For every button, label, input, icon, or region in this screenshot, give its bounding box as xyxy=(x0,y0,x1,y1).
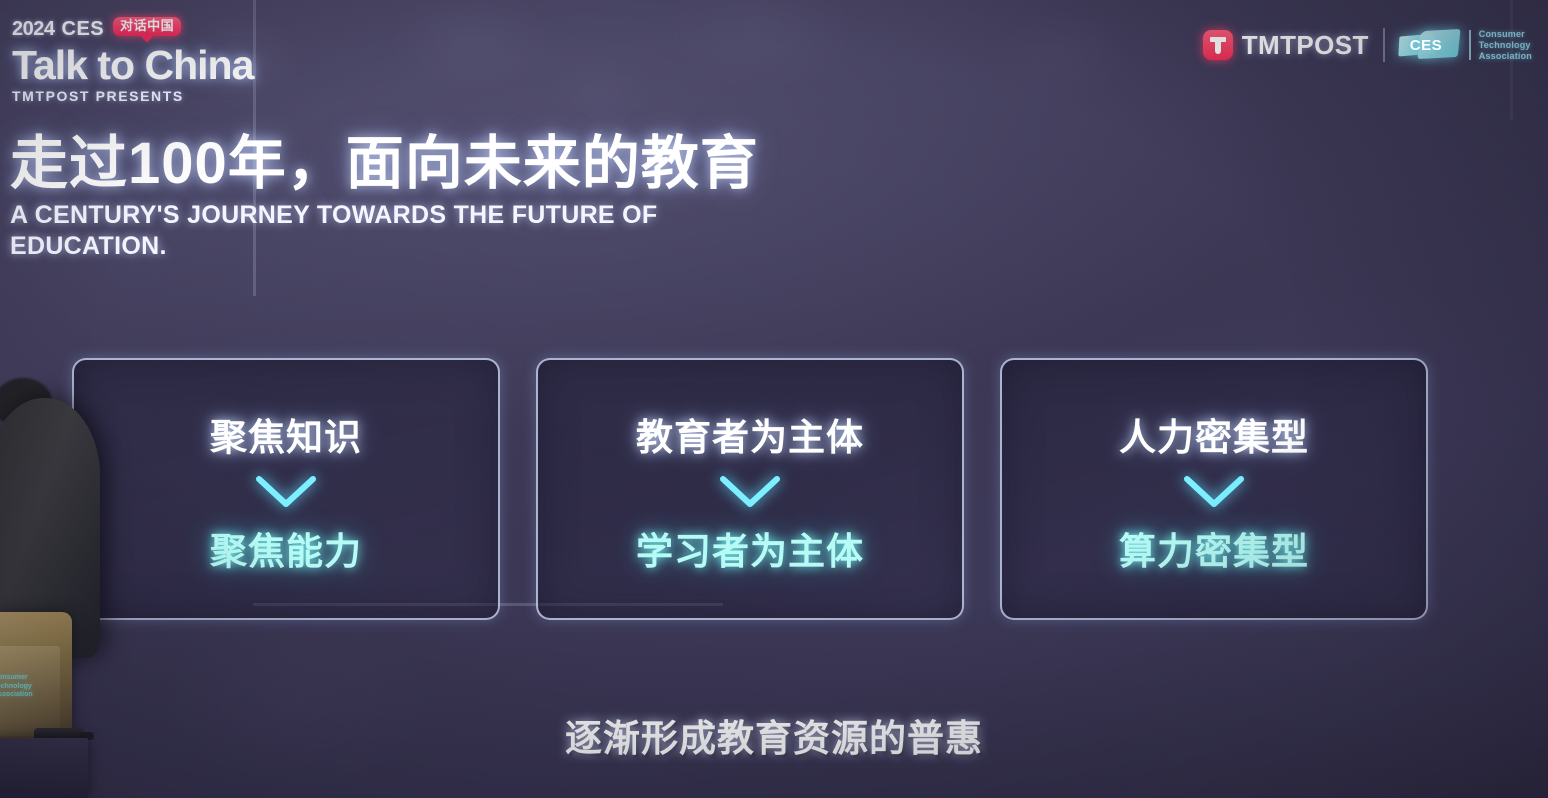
card-1-from-label: 聚焦知识 xyxy=(210,407,362,461)
chevron-down-icon xyxy=(255,475,317,509)
lectern-logo-line2: Technology xyxy=(0,683,33,692)
lectern-cta-logo-text: Consumer Technology Association xyxy=(0,674,33,700)
chevron-down-icon xyxy=(1183,475,1245,509)
lectern-logo-line1: Consumer xyxy=(0,674,33,683)
ces-mark-text: CES xyxy=(1410,37,1442,54)
tmtpost-t-mark-icon xyxy=(1203,30,1233,60)
cta-divider-icon xyxy=(1469,30,1471,60)
card-3-to-label: 算力密集型 xyxy=(1119,521,1309,575)
tmtpost-logo: TMTPOST xyxy=(1203,30,1369,61)
brand-year: 2024 xyxy=(12,18,55,40)
tmtpost-wordmark: TMTPOST xyxy=(1242,30,1369,61)
transition-card-3: 人力密集型 算力密集型 xyxy=(1000,358,1428,620)
lectern-panel: Consumer Technology Association xyxy=(0,612,72,740)
brand-top-row: 2024 CES 对话中国 xyxy=(12,18,272,42)
cta-association-line1: Consumer xyxy=(1479,29,1532,40)
presentation-slide-stage: 2024 CES 对话中国 Talk to China TMTPOST PRES… xyxy=(0,0,1548,798)
cta-association-line2: Technology xyxy=(1479,40,1532,51)
brand-chinese-bubble: 对话中国 xyxy=(113,17,181,36)
card-3-from-label: 人力密集型 xyxy=(1119,407,1309,461)
slide-headline: 走过100年，面向未来的教育 A CENTURY'S JOURNEY TOWAR… xyxy=(10,132,910,262)
bottom-caption: 逐渐形成教育资源的普惠 xyxy=(0,708,1548,762)
cta-logo: CES Consumer Technology Association xyxy=(1399,28,1532,62)
brand-title: Talk to China xyxy=(12,43,272,87)
headline-chinese: 走过100年，面向未来的教育 xyxy=(10,132,910,196)
brand-event-name: CES xyxy=(62,18,105,40)
transition-card-2: 教育者为主体 学习者为主体 xyxy=(536,358,964,620)
lectern: Consumer Technology Association xyxy=(0,612,80,798)
headline-english: A CENTURY'S JOURNEY TOWARDS THE FUTURE O… xyxy=(10,200,700,262)
card-1-to-label: 聚焦能力 xyxy=(210,521,362,575)
event-brand-logo: 2024 CES 对话中国 Talk to China TMTPOST PRES… xyxy=(12,18,272,104)
vertical-divider-icon xyxy=(1383,28,1385,62)
card-2-from-label: 教育者为主体 xyxy=(636,407,864,461)
lectern-base xyxy=(0,738,88,798)
cta-association-line3: Association xyxy=(1479,51,1532,62)
cta-association-text: Consumer Technology Association xyxy=(1479,29,1532,62)
transition-card-1: 聚焦知识 聚焦能力 xyxy=(72,358,500,620)
ces-shapes-icon: CES xyxy=(1399,28,1461,62)
chevron-down-icon xyxy=(719,475,781,509)
partner-logo-bar: TMTPOST CES Consumer Technology Associat… xyxy=(1203,28,1532,62)
transition-cards-row: 聚焦知识 聚焦能力 教育者为主体 学习者为主体 人力密集型 xyxy=(72,358,1428,620)
brand-presents-line: TMTPOST PRESENTS xyxy=(12,88,272,104)
lectern-logo-line3: Association xyxy=(0,691,33,700)
card-2-to-label: 学习者为主体 xyxy=(636,521,864,575)
